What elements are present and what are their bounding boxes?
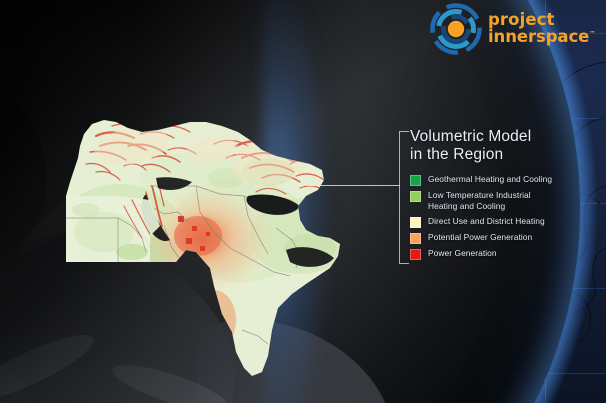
legend-item-direct-use-district-heating[interactable]: Direct Use and District Heating: [410, 216, 600, 228]
legend-item-potential-power-generation[interactable]: Potential Power Generation: [410, 232, 600, 244]
infographic-canvas: project innerspace™ Volumetric Model in …: [0, 0, 606, 403]
legend-label: Geothermal Heating and Cooling: [428, 174, 552, 185]
swatch-power-generation: [410, 249, 421, 260]
logo-wordmark: project innerspace™: [488, 12, 595, 46]
logo-line-innerspace: innerspace™: [488, 29, 595, 46]
swatch-low-temperature-industrial: [410, 191, 421, 202]
swatch-potential-power-generation: [410, 233, 421, 244]
legend-label: Potential Power Generation: [428, 232, 532, 243]
trademark-icon: ™: [589, 31, 595, 38]
callout-title: Volumetric Model in the Region: [410, 128, 600, 163]
legend-item-power-generation[interactable]: Power Generation: [410, 248, 600, 260]
callout-title-line1: Volumetric Model: [410, 128, 600, 146]
volumetric-model-callout: Volumetric Model in the Region Geotherma…: [410, 128, 600, 264]
legend-label: Power Generation: [428, 248, 497, 259]
swatch-geothermal-heating-cooling: [410, 175, 421, 186]
callout-title-line2: in the Region: [410, 146, 600, 164]
legend-item-geothermal-heating-cooling[interactable]: Geothermal Heating and Cooling: [410, 174, 600, 186]
concentric-arcs-logo-icon: [428, 2, 484, 56]
legend-label: Low Temperature Industrial Heating and C…: [428, 190, 531, 212]
legend-label: Direct Use and District Heating: [428, 216, 545, 227]
project-innerspace-logo[interactable]: project innerspace™: [428, 2, 595, 56]
callout-bracket-icon: [399, 131, 409, 264]
legend-list: Geothermal Heating and Cooling Low Tempe…: [410, 174, 600, 260]
leader-line-icon: [307, 185, 400, 186]
swatch-direct-use-district-heating: [410, 217, 421, 228]
legend-item-low-temperature-industrial[interactable]: Low Temperature Industrial Heating and C…: [410, 190, 600, 212]
